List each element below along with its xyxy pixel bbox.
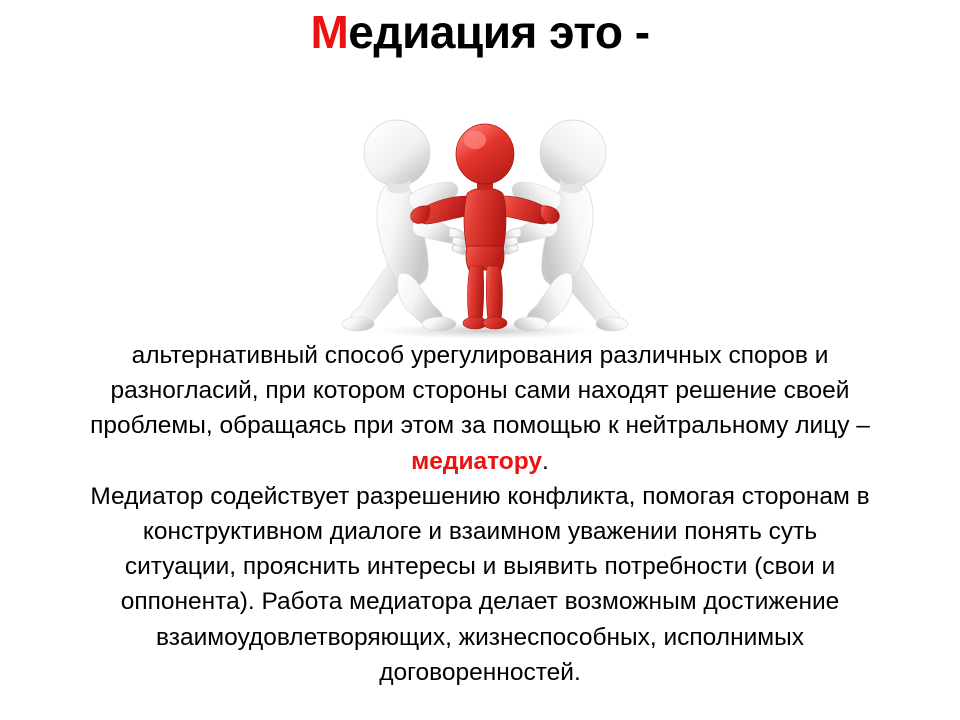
body-text: альтернативный способ урегулирования раз…: [0, 338, 960, 690]
body-line: Медиатор содействует разрешению конфликт…: [0, 479, 960, 514]
body-line: договоренностей.: [0, 655, 960, 690]
mediation-illustration: [325, 98, 645, 338]
slide: Медиация это -: [0, 0, 960, 720]
body-line: альтернативный способ урегулирования раз…: [0, 338, 960, 373]
page-title: Медиация это -: [0, 6, 960, 58]
body-line: проблемы, обращаясь при этом за помощью …: [0, 408, 960, 443]
title-rest: едиация это -: [348, 6, 649, 58]
body-line: ситуации, прояснить интересы и выявить п…: [0, 549, 960, 584]
three-figures-icon: [325, 98, 645, 338]
body-line: оппонента). Работа медиатора делает возм…: [0, 584, 960, 619]
figure-party-left: [342, 120, 468, 331]
mediator-term: медиатору: [411, 448, 542, 475]
figure-party-right: [502, 120, 628, 331]
body-line: взаимоудовлетворяющих, жизнеспособных, и…: [0, 620, 960, 655]
body-line: конструктивном диалоге и взаимном уважен…: [0, 514, 960, 549]
body-line: разногласий, при котором стороны сами на…: [0, 373, 960, 408]
title-accent-letter: М: [310, 6, 348, 58]
highlight-punctuation: .: [542, 448, 549, 475]
highlight-line: медиатору.: [0, 444, 960, 479]
